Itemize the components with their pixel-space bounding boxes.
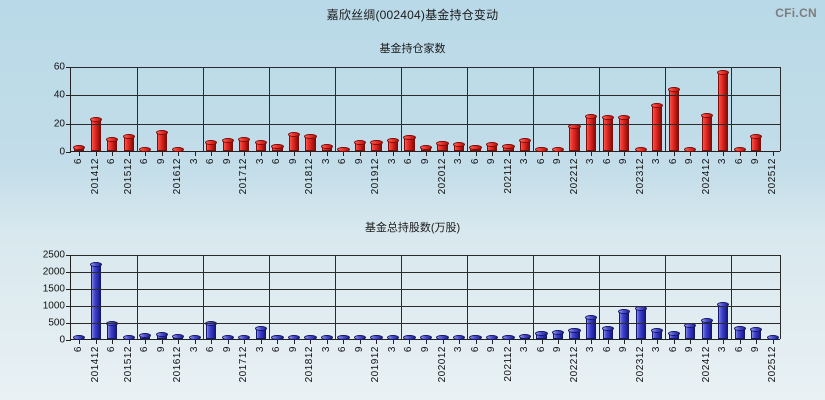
x-axis-tick-label: 9 [354, 346, 365, 352]
plot-right-border [780, 67, 781, 151]
x-axis-tick-label: 6 [139, 158, 150, 164]
bar-cap [701, 113, 713, 118]
chart1-plot-area: 0204060 [70, 67, 780, 152]
x-axis-tick-label: 6 [602, 346, 613, 352]
bar-body [569, 127, 579, 151]
bar-cap [701, 318, 713, 323]
x-axis-tick-mark [608, 152, 609, 156]
x-axis-tick-mark [641, 340, 642, 344]
x-axis-tick-label: 3 [585, 346, 596, 352]
bar-cap [354, 335, 366, 340]
x-axis-tick-mark [129, 152, 130, 156]
bar [338, 150, 348, 152]
bar [636, 150, 646, 152]
bar-cap [469, 335, 481, 340]
bar [569, 331, 579, 339]
x-axis-tick-label: 6 [205, 158, 216, 164]
x-axis-tick-mark [96, 152, 97, 156]
x-axis-tick-label: 3 [321, 158, 332, 164]
x-axis-tick-label: 6 [73, 346, 84, 352]
x-axis-tick-mark [178, 152, 179, 156]
x-axis-tick-mark [195, 152, 196, 156]
gridline-horizontal [71, 95, 780, 96]
bar-body [702, 116, 712, 151]
bar-cap [734, 147, 746, 152]
bar [735, 329, 745, 339]
x-axis-tick-mark [624, 340, 625, 344]
bar-body [157, 133, 167, 151]
x-axis-tick-mark [360, 340, 361, 344]
y-axis-tick-label: 60 [25, 62, 65, 73]
bar-cap [337, 335, 349, 340]
x-axis-tick-mark [277, 340, 278, 344]
x-axis-tick-label: 3 [189, 158, 200, 164]
x-axis-tick-mark [294, 340, 295, 344]
bar-cap [123, 335, 135, 340]
bar-cap [602, 326, 614, 331]
x-axis-tick-label: 201812 [304, 158, 315, 194]
bar [223, 141, 233, 151]
bar [107, 324, 117, 339]
y-axis-tick-label: 1000 [25, 301, 65, 312]
x-axis-tick-label: 202212 [569, 158, 580, 194]
bar [652, 106, 662, 151]
bar [569, 127, 579, 151]
bar-cap [271, 335, 283, 340]
gridline-vertical [665, 67, 666, 151]
x-axis-tick-mark [773, 340, 774, 344]
bar-cap [304, 335, 316, 340]
x-axis-tick-mark [674, 152, 675, 156]
x-axis-tick-mark [690, 340, 691, 344]
x-axis-tick-mark [294, 152, 295, 156]
gridline-vertical [203, 255, 204, 339]
y-axis-tick-label: 0 [25, 335, 65, 346]
bar [206, 324, 216, 339]
x-axis-tick-mark [145, 152, 146, 156]
bar [355, 143, 365, 152]
bar [685, 326, 695, 339]
x-axis-tick-label: 3 [651, 346, 662, 352]
bar [652, 331, 662, 340]
x-axis-tick-label: 202412 [701, 346, 712, 382]
x-axis-tick-mark [112, 152, 113, 156]
x-axis-tick-label: 9 [552, 346, 563, 352]
x-axis-tick-label: 6 [271, 158, 282, 164]
x-axis-tick-mark [657, 152, 658, 156]
bar-cap [238, 335, 250, 340]
x-axis-tick-mark [476, 152, 477, 156]
bar-body [718, 73, 728, 151]
bar [338, 338, 348, 340]
y-axis-tick-mark [66, 95, 71, 96]
bar [603, 329, 613, 339]
bar-body [636, 309, 646, 339]
x-axis-tick-mark [129, 340, 130, 344]
bar-cap [535, 147, 547, 152]
x-axis-tick-mark [443, 152, 444, 156]
bar [107, 140, 117, 151]
x-axis-tick-mark [723, 152, 724, 156]
bar [553, 150, 563, 152]
x-axis-tick-mark [707, 340, 708, 344]
x-axis-tick-mark [756, 340, 757, 344]
x-axis-tick-label: 9 [354, 158, 365, 164]
bar-cap [420, 335, 432, 340]
x-axis-tick-label: 6 [536, 158, 547, 164]
bar [718, 305, 728, 339]
x-axis-tick-mark [641, 152, 642, 156]
gridline-vertical [401, 67, 402, 151]
bar-cap [486, 335, 498, 340]
y-axis-tick-label: 2500 [25, 250, 65, 261]
bar-cap [568, 124, 580, 129]
bar [140, 150, 150, 152]
x-axis-tick-label: 6 [403, 158, 414, 164]
x-axis-tick-mark [492, 340, 493, 344]
bar [206, 143, 216, 152]
x-axis-tick-mark [492, 152, 493, 156]
bar [735, 150, 745, 152]
x-axis-tick-label: 9 [618, 158, 629, 164]
bar-cap [123, 134, 135, 139]
chart1-subtitle: 基金持仓家数 [0, 40, 825, 56]
x-axis-tick-mark [575, 340, 576, 344]
bar-cap [651, 328, 663, 333]
y-axis-tick-label: 1500 [25, 284, 65, 295]
x-axis-tick-label: 6 [337, 346, 348, 352]
x-axis-tick-mark [376, 340, 377, 344]
bar-cap [403, 335, 415, 340]
chart-page: 嘉欣丝绸(002404)基金持仓变动 CFi.CN 基金持仓家数 基金总持股数(… [0, 0, 825, 400]
bar-cap [502, 144, 514, 149]
x-axis-tick-label: 202012 [437, 346, 448, 382]
x-axis-tick-mark [674, 340, 675, 344]
x-axis-tick-mark [409, 152, 410, 156]
x-axis-tick-label: 202412 [701, 158, 712, 194]
x-axis-tick-mark [277, 152, 278, 156]
bar-cap [519, 334, 531, 339]
x-axis-tick-mark [459, 152, 460, 156]
chart1-bars [71, 67, 780, 151]
x-axis-tick-label: 6 [73, 158, 84, 164]
x-axis-tick-label: 201812 [304, 346, 315, 382]
x-axis-tick-mark [145, 340, 146, 344]
x-axis-tick-label: 3 [519, 158, 530, 164]
bar-cap [238, 137, 250, 142]
bar-cap [189, 335, 201, 340]
x-axis-tick-mark [178, 340, 179, 344]
bar [553, 333, 563, 339]
bar-cap [436, 141, 448, 146]
x-axis-tick-label: 9 [288, 158, 299, 164]
x-axis-tick-label: 6 [271, 346, 282, 352]
x-axis-tick-mark [360, 152, 361, 156]
x-axis-tick-mark [525, 340, 526, 344]
bar [371, 143, 381, 152]
x-axis-tick-label: 6 [734, 346, 745, 352]
x-axis-tick-mark [707, 152, 708, 156]
bar [355, 338, 365, 340]
x-axis-tick-label: 201612 [172, 158, 183, 194]
bar-body [305, 137, 315, 151]
x-axis-tick-mark [393, 340, 394, 344]
gridline-vertical [599, 255, 600, 339]
bar [157, 133, 167, 151]
x-axis-tick-label: 6 [205, 346, 216, 352]
bar-cap [304, 134, 316, 139]
x-axis-tick-mark [509, 152, 510, 156]
x-axis-tick-label: 6 [337, 158, 348, 164]
x-axis-tick-label: 9 [486, 158, 497, 164]
fund-holders-chart: 0204060 62014126201512692016123692017123… [0, 58, 825, 203]
x-axis-tick-label: 202312 [635, 158, 646, 194]
x-axis-tick-mark [211, 152, 212, 156]
bar [173, 150, 183, 152]
x-axis-tick-label: 3 [189, 346, 200, 352]
bar-cap [222, 335, 234, 340]
gridline-vertical [599, 67, 600, 151]
x-axis-tick-mark [591, 152, 592, 156]
x-axis-tick-label: 6 [668, 346, 679, 352]
gridline-vertical [731, 255, 732, 339]
bar-cap [321, 144, 333, 149]
gridline-vertical [269, 67, 270, 151]
bar-cap [205, 140, 217, 145]
x-axis-tick-mark [79, 340, 80, 344]
bar [718, 73, 728, 151]
x-axis-tick-mark [162, 152, 163, 156]
y-axis-tick-mark [66, 67, 71, 68]
bar-cap [370, 140, 382, 145]
x-axis-tick-label: 201912 [370, 346, 381, 382]
gridline-vertical [665, 255, 666, 339]
x-axis-tick-mark [261, 340, 262, 344]
x-axis-tick-label: 202212 [569, 346, 580, 382]
gridline-horizontal [71, 255, 780, 256]
bar [305, 137, 315, 151]
y-axis-tick-label: 2000 [25, 267, 65, 278]
x-axis-tick-label: 201512 [123, 346, 134, 382]
x-axis-tick-mark [575, 152, 576, 156]
bar [536, 334, 546, 339]
bar-cap [684, 147, 696, 152]
x-axis-tick-label: 6 [470, 158, 481, 164]
x-axis-tick-label: 201712 [238, 346, 249, 382]
bar-cap [370, 335, 382, 340]
bar-cap [288, 335, 300, 340]
y-axis-tick-label: 40 [25, 90, 65, 101]
y-axis-tick-mark [66, 289, 71, 290]
bar-cap [387, 335, 399, 340]
x-axis-tick-mark [409, 340, 410, 344]
bar-body [652, 106, 662, 151]
bar-cap [502, 335, 514, 340]
gridline-vertical [203, 67, 204, 151]
bar-cap [90, 262, 102, 267]
x-axis-tick-mark [459, 340, 460, 344]
x-axis-tick-label: 9 [156, 346, 167, 352]
bar-cap [90, 117, 102, 122]
x-axis-tick-label: 6 [470, 346, 481, 352]
gridline-vertical [401, 255, 402, 339]
x-axis-tick-mark [591, 340, 592, 344]
gridline-vertical [533, 67, 534, 151]
bar [388, 338, 398, 340]
gridline-horizontal [71, 323, 780, 324]
bar-body [669, 90, 679, 151]
x-axis-tick-label: 3 [519, 346, 530, 352]
bar [768, 338, 778, 340]
chart2-bars [71, 255, 780, 339]
bar [256, 143, 266, 152]
x-axis-tick-label: 9 [288, 346, 299, 352]
bar-cap [337, 147, 349, 152]
x-axis-tick-label: 9 [750, 346, 761, 352]
x-axis-tick-label: 9 [222, 158, 233, 164]
bar-cap [156, 332, 168, 337]
x-axis-tick-mark [509, 340, 510, 344]
bar-cap [618, 309, 630, 314]
bar [322, 147, 332, 151]
bar [702, 116, 712, 151]
bar [421, 148, 431, 151]
bar [157, 335, 167, 339]
x-axis-tick-label: 9 [156, 158, 167, 164]
bar [404, 338, 414, 340]
y-axis-tick-mark [66, 124, 71, 125]
bar [272, 147, 282, 151]
y-axis-tick-label: 500 [25, 318, 65, 329]
x-axis-tick-mark [393, 152, 394, 156]
gridline-horizontal [71, 272, 780, 273]
bar-cap [354, 140, 366, 145]
bar-body [619, 312, 629, 339]
gridline-vertical [335, 67, 336, 151]
bar [586, 117, 596, 151]
bar [289, 338, 299, 340]
y-axis-tick-mark [66, 255, 71, 256]
x-axis-tick-mark [443, 340, 444, 344]
bar-body [718, 305, 728, 339]
bar [190, 338, 200, 340]
x-axis-tick-label: 202512 [767, 158, 778, 194]
bar [636, 309, 646, 339]
page-title: 嘉欣丝绸(002404)基金持仓变动 [0, 6, 825, 23]
bar-cap [668, 87, 680, 92]
gridline-vertical [137, 67, 138, 151]
bar [140, 336, 150, 339]
bar-cap [651, 103, 663, 108]
x-axis-tick-mark [327, 152, 328, 156]
x-axis-tick-mark [558, 152, 559, 156]
bar [520, 337, 530, 339]
x-axis-tick-label: 202012 [437, 158, 448, 194]
x-axis-tick-mark [228, 152, 229, 156]
y-axis-tick-mark [66, 272, 71, 273]
x-axis-tick-mark [426, 340, 427, 344]
x-axis-tick-mark [608, 340, 609, 344]
bar-body [685, 326, 695, 339]
bar-cap [767, 335, 779, 340]
x-axis-tick-label: 3 [255, 158, 266, 164]
bar-cap [436, 335, 448, 340]
gridline-vertical [335, 255, 336, 339]
x-axis-tick-mark [327, 340, 328, 344]
x-axis-tick-label: 9 [486, 346, 497, 352]
x-axis-tick-label: 201912 [370, 158, 381, 194]
x-axis-tick-mark [162, 340, 163, 344]
bar [470, 338, 480, 340]
x-axis-tick-label: 6 [602, 158, 613, 164]
bar-body [289, 135, 299, 151]
bar [74, 338, 84, 340]
bar-cap [552, 147, 564, 152]
bar [305, 338, 315, 340]
x-axis-tick-mark [228, 340, 229, 344]
x-axis-tick-mark [542, 340, 543, 344]
bar [404, 138, 414, 151]
x-axis-tick-mark [376, 152, 377, 156]
x-axis-tick-mark [244, 152, 245, 156]
bar [454, 338, 464, 340]
gridline-horizontal [71, 124, 780, 125]
bar [124, 137, 134, 151]
bar [239, 338, 249, 340]
bar [371, 338, 381, 340]
x-axis-tick-label: 9 [420, 158, 431, 164]
bar-cap [750, 327, 762, 332]
y-axis-tick-mark [66, 323, 71, 324]
x-axis-tick-label: 6 [106, 346, 117, 352]
x-axis-tick-label: 3 [717, 158, 728, 164]
x-axis-tick-label: 202112 [503, 346, 514, 382]
bar-body [124, 137, 134, 151]
bar [272, 338, 282, 340]
bar [669, 90, 679, 151]
gridline-vertical [467, 67, 468, 151]
x-axis-tick-label: 3 [651, 158, 662, 164]
x-axis-tick-label: 9 [552, 158, 563, 164]
bar [74, 148, 84, 151]
x-axis-tick-mark [723, 340, 724, 344]
bar [669, 334, 679, 339]
fund-total-shares-chart: 05001000150020002500 6201412620151269201… [0, 236, 825, 386]
x-axis-tick-mark [343, 152, 344, 156]
x-axis-tick-mark [343, 340, 344, 344]
x-axis-tick-mark [244, 340, 245, 344]
bar-cap [668, 331, 680, 336]
y-axis-tick-mark [66, 340, 71, 341]
bar [322, 338, 332, 340]
bar-body [107, 324, 117, 339]
x-axis-tick-label: 3 [321, 346, 332, 352]
x-axis-tick-label: 6 [668, 158, 679, 164]
bar [421, 338, 431, 340]
x-axis-tick-mark [195, 340, 196, 344]
x-axis-tick-mark [96, 340, 97, 344]
x-axis-tick-mark [261, 152, 262, 156]
bar-cap [156, 130, 168, 135]
x-axis-tick-label: 6 [403, 346, 414, 352]
bar [437, 338, 447, 340]
bar-body [404, 138, 414, 151]
bar [487, 145, 497, 151]
x-axis-tick-mark [756, 152, 757, 156]
gridline-vertical [269, 255, 270, 339]
x-axis-tick-mark [773, 152, 774, 156]
watermark-label: CFi.CN [775, 6, 817, 20]
